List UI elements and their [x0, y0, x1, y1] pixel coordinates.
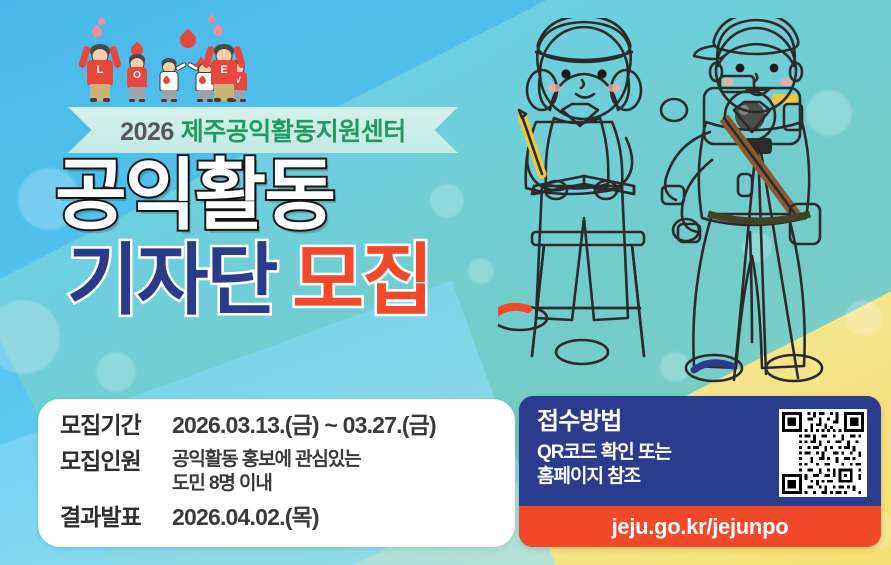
info-value-result: 2026.04.02.(목) — [172, 504, 319, 531]
website-url: jeju.go.kr/jejunpo — [612, 514, 789, 540]
application-title: 접수방법 — [537, 409, 779, 435]
heart-icon — [207, 15, 217, 25]
qr-code[interactable] — [779, 409, 867, 497]
love-letter: O — [133, 71, 141, 81]
bokeh-circle — [468, 258, 494, 284]
info-value-headcount: 공익활동 홍보에 관심있는 도민 8명 이내 — [172, 448, 361, 495]
love-figure-o: O — [124, 46, 150, 102]
female-reporter-character — [498, 18, 641, 364]
application-method-box: 접수방법 QR코드 확인 또는 홈페이지 참조 — [519, 396, 881, 547]
info-row-headcount: 모집인원 공익활동 홍보에 관심있는 도민 8명 이내 — [38, 448, 515, 495]
headline-recruit: 모집 — [292, 236, 432, 324]
info-label-period: 모집기간 — [60, 412, 172, 438]
info-label-headcount: 모집인원 — [60, 448, 172, 474]
headline-line-2: 기자단모집 — [67, 243, 432, 318]
love-letter: E — [220, 65, 227, 76]
bokeh-circle — [430, 184, 464, 218]
heart-icon — [177, 29, 200, 52]
info-value-period: 2026.03.13.(금) ~ 03.27.(금) — [172, 412, 436, 439]
info-label-result: 결과발표 — [60, 504, 172, 530]
love-figure-e: E — [206, 34, 242, 102]
poster-canvas: L O — [0, 0, 891, 565]
love-figure-l: L — [82, 34, 118, 102]
heart-icon — [97, 17, 107, 27]
recruitment-info-card: 모집기간 2026.03.13.(금) ~ 03.27.(금) 모집인원 공익활… — [38, 399, 515, 547]
reporter-illustration — [498, 18, 891, 408]
ribbon-organization: 제주공익활동지원센터 — [181, 118, 406, 146]
application-subtitle: QR코드 확인 또는 홈페이지 참조 — [537, 441, 779, 489]
ribbon-year: 2026 — [120, 118, 174, 146]
love-letter: L — [97, 65, 104, 76]
website-url-bar[interactable]: jeju.go.kr/jejunpo — [519, 506, 881, 547]
poster-headline: 공익활동 기자단모집 — [55, 158, 432, 318]
bokeh-circle — [96, 352, 136, 392]
info-row-period: 모집기간 2026.03.13.(금) ~ 03.27.(금) — [38, 412, 515, 439]
love-figure-child-1 — [156, 50, 182, 102]
pencil-icon — [519, 110, 542, 174]
application-method-content: 접수방법 QR코드 확인 또는 홈페이지 참조 — [519, 396, 881, 506]
info-row-result: 결과발표 2026.04.02.(목) — [38, 504, 515, 531]
organization-ribbon: 2026제주공익활동지원센터 — [68, 107, 458, 153]
headline-press-corps: 기자단 — [67, 236, 276, 324]
male-photographer-character — [661, 18, 822, 381]
headline-line-1: 공익활동 — [55, 158, 432, 233]
application-text-group: 접수방법 QR코드 확인 또는 홈페이지 참조 — [537, 409, 779, 489]
